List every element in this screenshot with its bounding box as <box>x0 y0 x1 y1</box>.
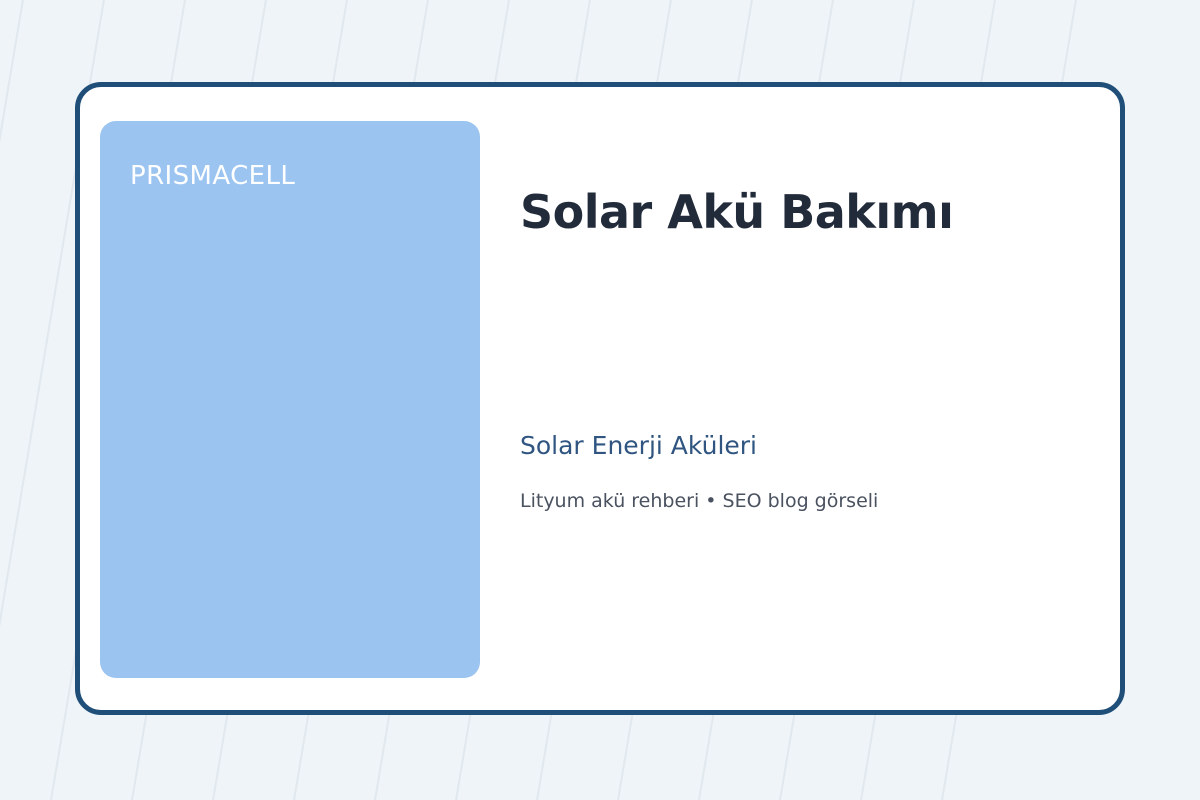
brand-name-label: PRISMACELL <box>130 161 295 191</box>
category-link[interactable]: Solar Enerji Aküleri <box>520 432 757 461</box>
meta-description: Lityum akü rehberi • SEO blog görseli <box>520 490 878 513</box>
content-card: PRISMACELL Solar Akü Bakımı Solar Enerji… <box>75 82 1125 715</box>
brand-visual-panel: PRISMACELL <box>100 121 480 678</box>
page-title: Solar Akü Bakımı <box>520 188 953 236</box>
article-content-panel: Solar Akü Bakımı Solar Enerji Aküleri Li… <box>520 121 1090 678</box>
